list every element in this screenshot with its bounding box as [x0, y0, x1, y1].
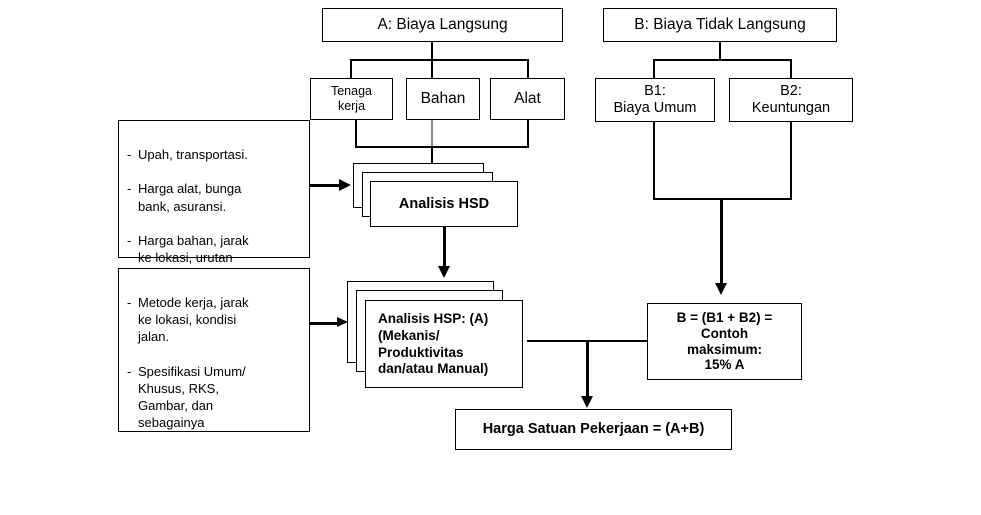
- list-item: - Metode kerja, jarak ke lokasi, kondisi…: [127, 294, 249, 345]
- connector-a-to-bahan: [431, 59, 433, 79]
- connector-b2-down: [790, 122, 792, 199]
- connector-alat-down: [527, 120, 529, 147]
- node-b1-biaya-umum-label: B1: Biaya Umum: [614, 83, 697, 117]
- node-alat-label: Alat: [514, 90, 541, 108]
- node-b1-biaya-umum[interactable]: B1: Biaya Umum: [595, 78, 715, 122]
- arrowhead-to-final: [581, 396, 593, 408]
- note-text: Harga alat, bunga bank, asuransi.: [138, 180, 249, 214]
- connector-final-down: [586, 340, 589, 403]
- arrowhead-note1-to-hsd: [339, 179, 351, 191]
- node-analisis-hsd-stack[interactable]: Analisis HSD: [353, 163, 519, 227]
- list-item: - Spesifikasi Umum/ Khusus, RKS, Gambar,…: [127, 363, 249, 432]
- node-analisis-hsp-label: Analisis HSP: (A) (Mekanis/ Produktivita…: [378, 311, 488, 379]
- arrowhead-hsd-to-hsp: [438, 266, 450, 278]
- connector-b-to-b2: [790, 59, 792, 79]
- node-analisis-hsp-stack[interactable]: Analisis HSP: (A) (Mekanis/ Produktivita…: [347, 281, 527, 388]
- node-b-indirect-cost[interactable]: B: Biaya Tidak Langsung: [603, 8, 837, 42]
- connector-merge-to-b-formula: [720, 198, 723, 291]
- bullet-dash: -: [127, 294, 138, 345]
- bullet-dash: -: [127, 146, 138, 163]
- list-item: - Upah, transportasi.: [127, 146, 249, 163]
- node-b-indirect-cost-label: B: Biaya Tidak Langsung: [634, 16, 805, 34]
- note-text: Spesifikasi Umum/ Khusus, RKS, Gambar, d…: [138, 363, 249, 432]
- node-bahan[interactable]: Bahan: [406, 78, 480, 120]
- note-text: Metode kerja, jarak ke lokasi, kondisi j…: [138, 294, 249, 345]
- node-b-formula-label: B = (B1 + B2) = Contoh maksimum: 15% A: [677, 310, 773, 374]
- node-a-direct-cost-label: A: Biaya Langsung: [377, 16, 507, 34]
- connector-b-bus: [653, 59, 791, 61]
- node-a-direct-cost[interactable]: A: Biaya Langsung: [322, 8, 563, 42]
- connector-resources-merge-bus: [355, 146, 529, 148]
- node-b2-keuntungan-label: B2: Keuntungan: [752, 83, 830, 117]
- connector-a-to-alat: [527, 59, 529, 79]
- node-analisis-hsp[interactable]: Analisis HSP: (A) (Mekanis/ Produktivita…: [365, 300, 523, 388]
- connector-a-to-tenaga: [350, 59, 352, 79]
- bullet-dash: -: [127, 180, 138, 214]
- arrowhead-merge-to-b-formula: [715, 283, 727, 295]
- connector-b-down: [719, 42, 721, 60]
- note-text: Upah, transportasi.: [138, 146, 249, 163]
- node-tenaga-kerja[interactable]: Tenaga kerja: [310, 78, 393, 120]
- connector-tenaga-down: [355, 120, 357, 147]
- node-analisis-hsd-label: Analisis HSD: [399, 195, 489, 213]
- node-harga-satuan-pekerjaan-label: Harga Satuan Pekerjaan = (A+B): [483, 421, 705, 438]
- bullet-dash: -: [127, 363, 138, 432]
- connector-a-down: [431, 42, 433, 60]
- node-analisis-hsd[interactable]: Analisis HSD: [370, 181, 518, 227]
- node-alat[interactable]: Alat: [490, 78, 565, 120]
- node-harga-satuan-pekerjaan[interactable]: Harga Satuan Pekerjaan = (A+B): [455, 409, 732, 450]
- connector-b-to-b1: [653, 59, 655, 79]
- list-item: - Harga alat, bunga bank, asuransi.: [127, 180, 249, 214]
- node-b-formula[interactable]: B = (B1 + B2) = Contoh maksimum: 15% A: [647, 303, 802, 380]
- note-box-hsp-inputs[interactable]: - Metode kerja, jarak ke lokasi, kondisi…: [118, 268, 310, 432]
- connector-b1-down: [653, 122, 655, 199]
- flowchart-canvas: A: Biaya Langsung Tenaga kerja Bahan Ala…: [0, 0, 981, 515]
- note-box-2-list: - Metode kerja, jarak ke lokasi, kondisi…: [127, 277, 249, 449]
- node-tenaga-kerja-label: Tenaga kerja: [331, 84, 372, 114]
- node-b2-keuntungan[interactable]: B2: Keuntungan: [729, 78, 853, 122]
- node-bahan-label: Bahan: [421, 90, 466, 108]
- note-box-direct-cost-inputs[interactable]: - Upah, transportasi. - Harga alat, bung…: [118, 120, 310, 258]
- connector-a-bus: [350, 59, 528, 61]
